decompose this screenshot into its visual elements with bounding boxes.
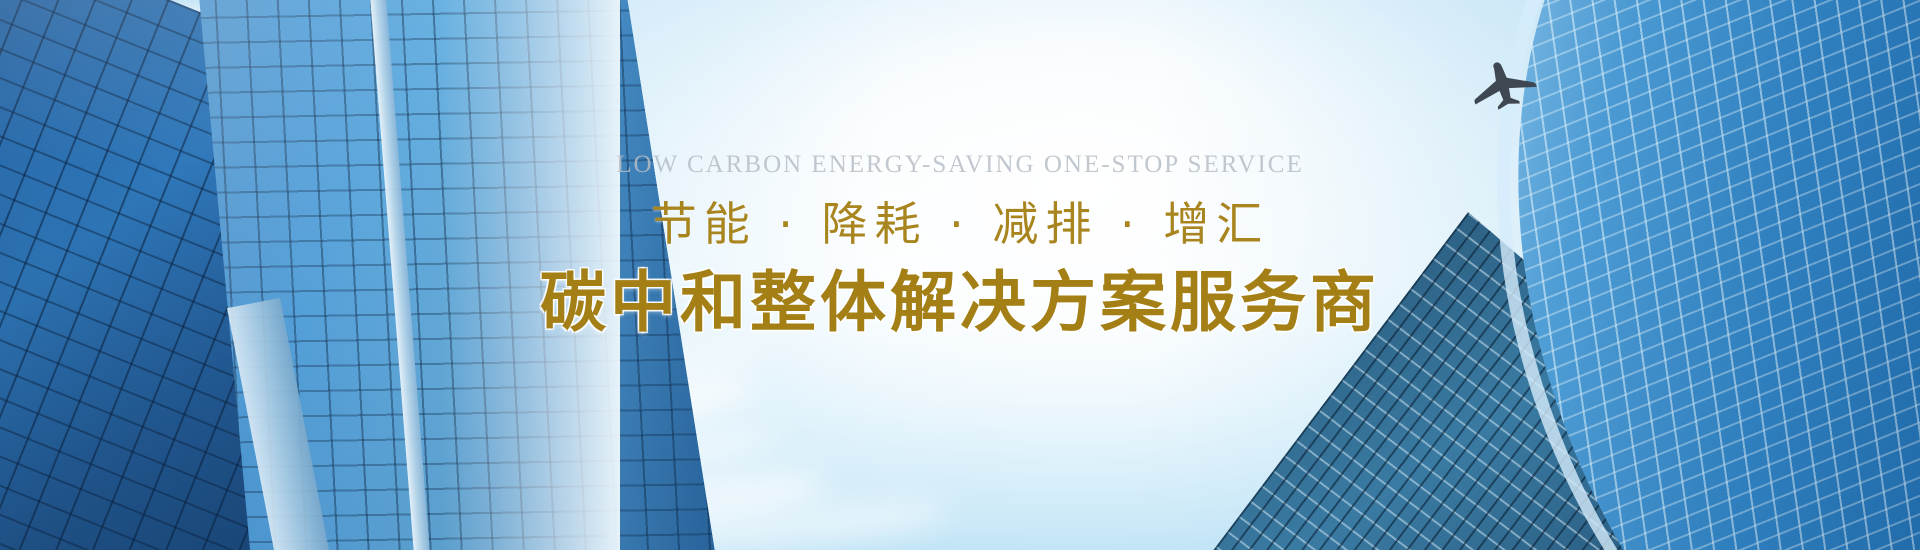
banner-subtitle: 节能 · 降耗 · 减排 · 增汇 — [0, 199, 1920, 250]
hero-banner: LOW CARBON ENERGY-SAVING ONE-STOP SERVIC… — [0, 0, 1920, 550]
banner-copy-block: LOW CARBON ENERGY-SAVING ONE-STOP SERVIC… — [0, 152, 1920, 340]
banner-title: 碳中和整体解决方案服务商 — [0, 266, 1920, 340]
banner-eyebrow: LOW CARBON ENERGY-SAVING ONE-STOP SERVIC… — [0, 152, 1920, 177]
